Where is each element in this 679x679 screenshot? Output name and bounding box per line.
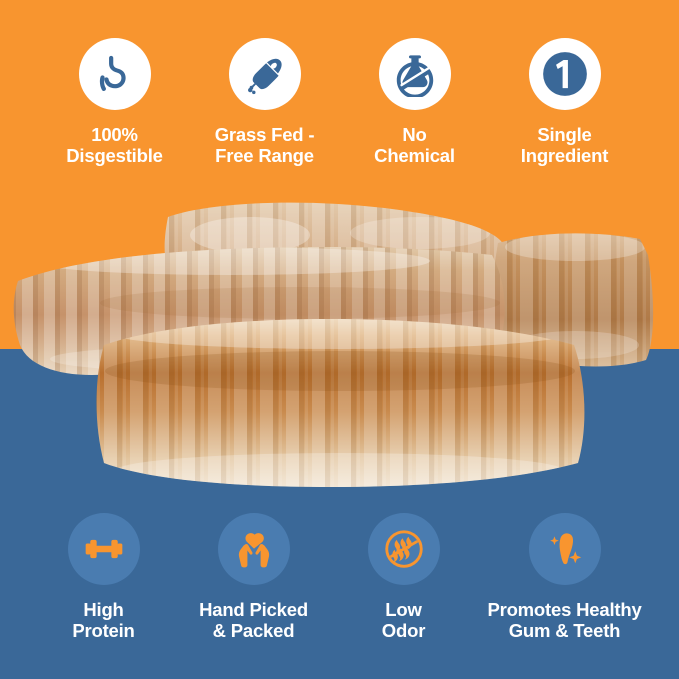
beef-trachea-chews-photo	[0, 195, 679, 500]
infographic-canvas: 100% Disgestible Grass Fed - Free Range	[0, 0, 679, 679]
tooth-sparkle-icon	[529, 513, 601, 585]
feature-label: Low Odor	[382, 599, 425, 642]
feature-label: 100% Disgestible	[66, 124, 163, 167]
feature-label: Single Ingredient	[521, 124, 608, 167]
feature-label: Promotes Healthy Gum & Teeth	[487, 599, 641, 642]
feature-no-chemical: No Chemical	[340, 38, 490, 167]
feature-single-ingredient: Single Ingredient	[490, 38, 640, 167]
feature-label: Grass Fed - Free Range	[215, 124, 315, 167]
number-one-icon	[529, 38, 601, 110]
hands-heart-icon	[218, 513, 290, 585]
feature-hand-picked: Hand Picked & Packed	[179, 513, 329, 642]
feature-healthy-teeth: Promotes Healthy Gum & Teeth	[479, 513, 651, 642]
bottom-feature-row: High Protein Hand Picked & Packed	[0, 513, 679, 642]
no-flask-icon	[379, 38, 451, 110]
feature-label: High Protein	[72, 599, 134, 642]
dumbbell-icon	[68, 513, 140, 585]
stomach-icon	[79, 38, 151, 110]
top-feature-row: 100% Disgestible Grass Fed - Free Range	[0, 38, 679, 167]
feature-label: Hand Picked & Packed	[199, 599, 308, 642]
feature-low-odor: Low Odor	[329, 513, 479, 642]
ham-meat-icon	[229, 38, 301, 110]
no-odor-icon	[368, 513, 440, 585]
feature-high-protein: High Protein	[29, 513, 179, 642]
feature-label: No Chemical	[374, 124, 455, 167]
feature-grass-fed: Grass Fed - Free Range	[190, 38, 340, 167]
feature-digestible: 100% Disgestible	[40, 38, 190, 167]
